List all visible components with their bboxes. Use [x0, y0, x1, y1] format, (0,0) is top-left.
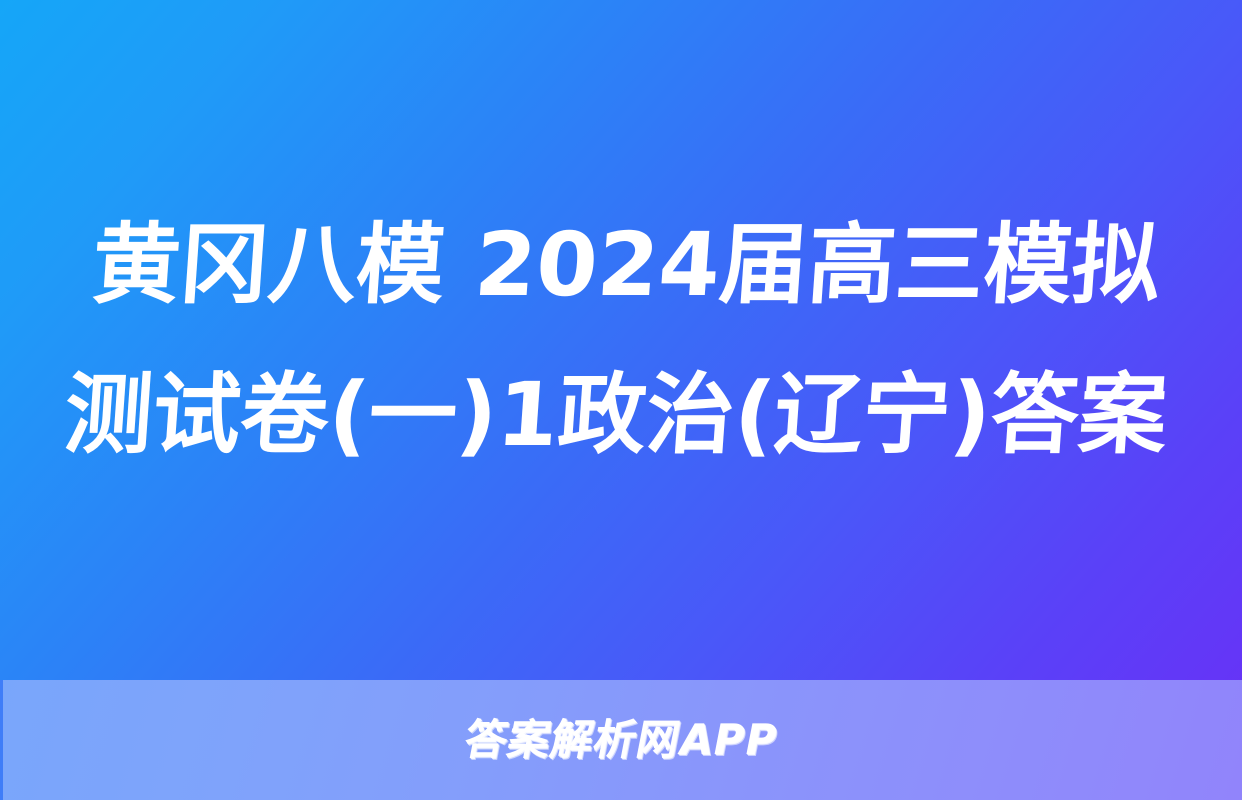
band-left-edge-accent	[0, 680, 3, 800]
app-watermark-label: 答案解析网APP	[460, 716, 781, 764]
poster-container: 黄冈八模 2024届高三模拟测试卷(一)1政治(辽宁)答案 答案解析网APP	[0, 0, 1242, 800]
page-title: 黄冈八模 2024届高三模拟测试卷(一)1政治(辽宁)答案	[52, 190, 1191, 490]
watermark-band: 答案解析网APP	[0, 680, 1242, 800]
title-area: 黄冈八模 2024届高三模拟测试卷(一)1政治(辽宁)答案	[0, 0, 1242, 680]
